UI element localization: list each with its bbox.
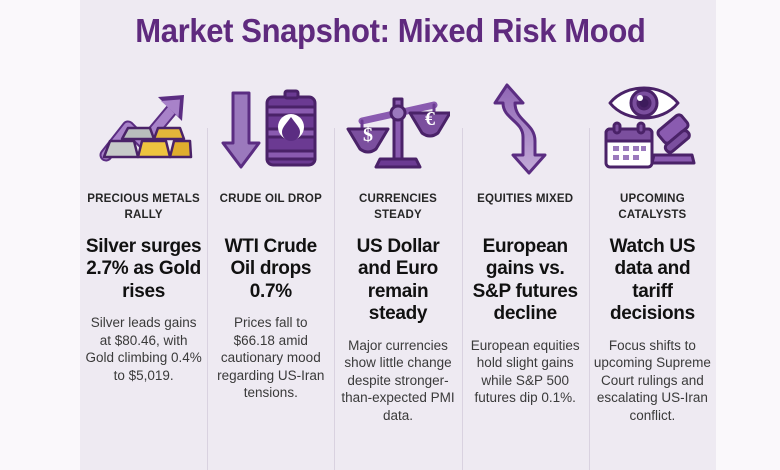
column-body: Major currencies show little change desp… — [339, 337, 456, 425]
double-headed-wavy-arrow-icon — [473, 70, 577, 188]
column-crude-oil: CRUDE OIL DROP WTI Crude Oil drops 0.7% … — [207, 70, 334, 470]
title-bar: Market Snapshot: Mixed Risk Mood — [0, 0, 780, 62]
column-body: Focus shifts to upcoming Supreme Court r… — [594, 337, 711, 425]
column-body: Silver leads gains at $80.46, with Gold … — [85, 314, 202, 384]
column-body: European equities hold slight gains whil… — [467, 337, 584, 407]
balance-scale-currency-icon: $ € — [346, 70, 450, 188]
column-headline: Watch US data and tariff decisions — [594, 236, 711, 326]
oil-barrel-down-arrow-icon — [219, 70, 323, 188]
svg-text:€: € — [425, 108, 435, 130]
column-currencies: $ € CURRENCIES STEADY US Dollar and Euro… — [334, 70, 461, 470]
column-catalysts: UPCOMING CATALYSTS Watch US data and tar… — [589, 70, 716, 470]
columns-container: PRECIOUS METALS RALLY Silver surges 2.7%… — [80, 70, 716, 470]
column-equities: EQUITIES MIXED European gains vs. S&P fu… — [462, 70, 589, 470]
category-label: EQUITIES MIXED — [477, 188, 573, 226]
column-precious-metals: PRECIOUS METALS RALLY Silver surges 2.7%… — [80, 70, 207, 470]
page-title: Market Snapshot: Mixed Risk Mood — [135, 12, 645, 50]
column-headline: WTI Crude Oil drops 0.7% — [212, 236, 329, 303]
svg-text:$: $ — [363, 124, 373, 146]
category-label: PRECIOUS METALS RALLY — [85, 188, 202, 226]
column-headline: US Dollar and Euro remain steady — [339, 236, 456, 326]
column-body: Prices fall to $66.18 amid cautionary mo… — [212, 314, 329, 402]
category-label: UPCOMING CATALYSTS — [594, 188, 711, 226]
infographic-page: Market Snapshot: Mixed Risk Mood — [0, 0, 780, 470]
gold-bars-up-arrow-icon — [92, 70, 196, 188]
column-headline: Silver surges 2.7% as Gold rises — [85, 236, 202, 303]
category-label: CURRENCIES STEADY — [339, 188, 456, 226]
column-headline: European gains vs. S&P futures decline — [467, 236, 584, 326]
eye-calendar-gavel-icon — [600, 70, 704, 188]
category-label: CRUDE OIL DROP — [220, 188, 322, 226]
